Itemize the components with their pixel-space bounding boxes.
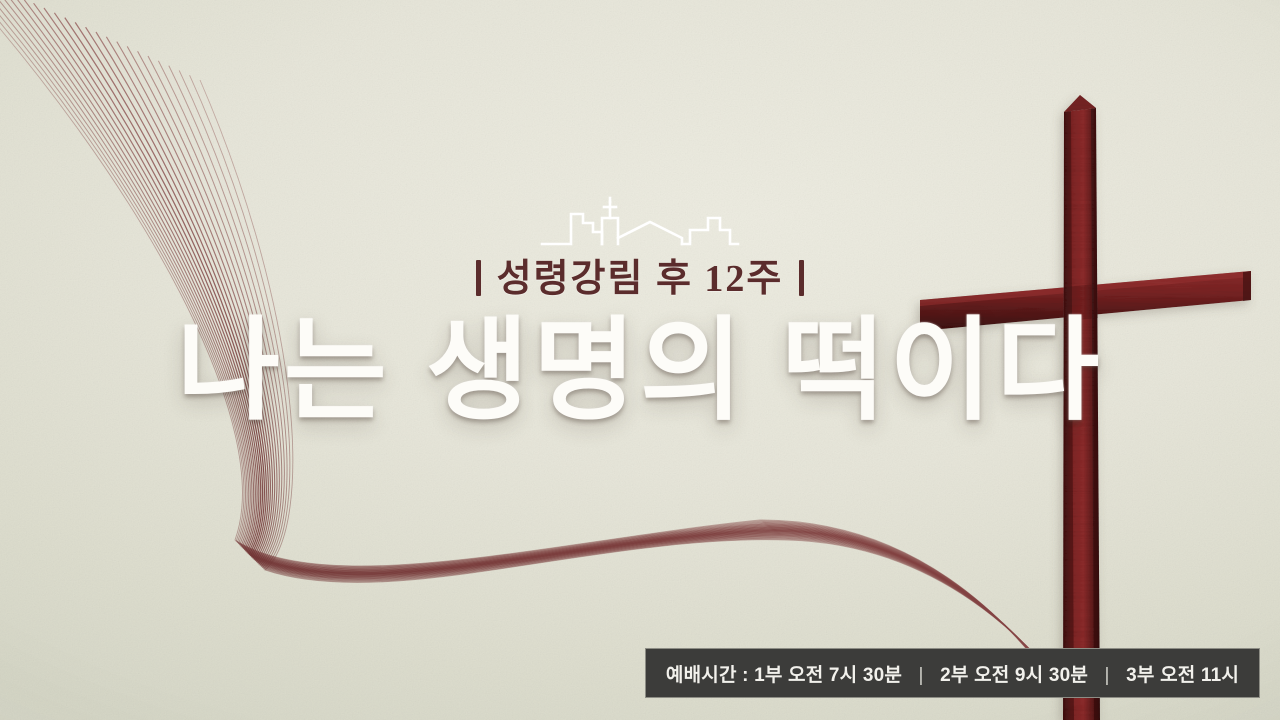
service-time-2: 2부 오전 9시 30분 bbox=[940, 665, 1088, 686]
service-separator-2: | bbox=[1105, 665, 1110, 687]
service-separator-1: | bbox=[919, 665, 924, 687]
service-time-1: 1부 오전 7시 30분 bbox=[754, 665, 902, 686]
service-times-banner: 예배시간 : 1부 오전 7시 30분 | 2부 오전 9시 30분 | 3부 … bbox=[645, 648, 1260, 698]
service-time-3: 3부 오전 11시 bbox=[1126, 665, 1239, 686]
church-skyline-icon bbox=[538, 196, 742, 248]
eyebrow-bar-right bbox=[799, 260, 804, 296]
sermon-title: 나는 생명의 떡이다 bbox=[0, 312, 1280, 430]
slide-center-content: 성령강림 후 12주 나는 생명의 떡이다 bbox=[0, 196, 1280, 430]
eyebrow-bar-left bbox=[476, 260, 481, 296]
eyebrow-label: 성령강림 후 12주 bbox=[497, 258, 784, 300]
service-times-text: 예배시간 : 1부 오전 7시 30분 | 2부 오전 9시 30분 | 3부 … bbox=[666, 660, 1239, 687]
sermon-series-eyebrow: 성령강림 후 12주 bbox=[0, 260, 1280, 298]
sermon-slide: 성령강림 후 12주 나는 생명의 떡이다 예배시간 : 1부 오전 7시 30… bbox=[0, 0, 1280, 720]
service-times-prefix: 예배시간 : bbox=[666, 665, 749, 686]
